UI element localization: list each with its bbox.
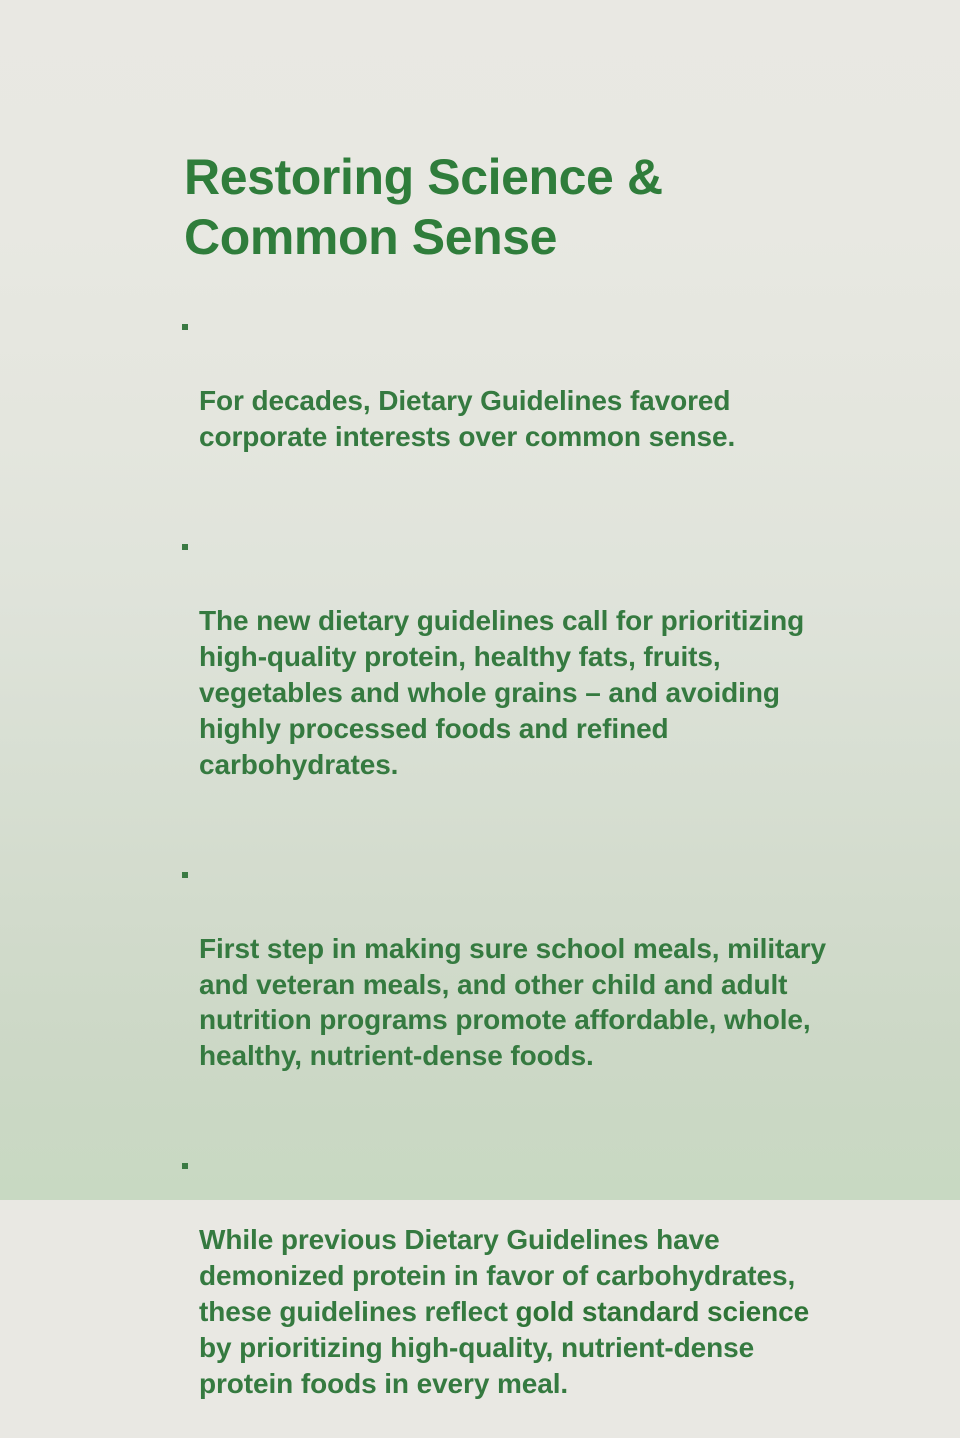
slide-canvas: Restoring Science & Common Sense For dec…: [0, 0, 960, 1200]
list-item: The new dietary guidelines call for prio…: [182, 531, 882, 819]
list-item-text-after: by prioritizing high-quality, nutrient-d…: [199, 1332, 754, 1399]
list-item: First step in making sure school meals, …: [182, 859, 882, 1111]
square-bullet-icon: [182, 1163, 188, 1169]
bullet-list: For decades, Dietary Guidelines favored …: [182, 311, 882, 1438]
list-item-text: First step in making sure school meals, …: [199, 931, 882, 1075]
square-bullet-icon: [182, 544, 188, 550]
list-item-text: While previous Dietary Guidelines have d…: [199, 1222, 882, 1402]
square-bullet-icon: [182, 872, 188, 878]
page-title: Restoring Science & Common Sense: [184, 148, 882, 267]
list-item-text: The new dietary guidelines call for prio…: [199, 603, 882, 783]
list-item-emphasis: gold standard science: [516, 1296, 810, 1327]
list-item: While previous Dietary Guidelines have d…: [182, 1150, 882, 1438]
square-bullet-icon: [182, 324, 188, 330]
slide-content: Restoring Science & Common Sense For dec…: [182, 148, 882, 1438]
list-item: For decades, Dietary Guidelines favored …: [182, 311, 882, 491]
list-item-text: For decades, Dietary Guidelines favored …: [199, 383, 882, 455]
